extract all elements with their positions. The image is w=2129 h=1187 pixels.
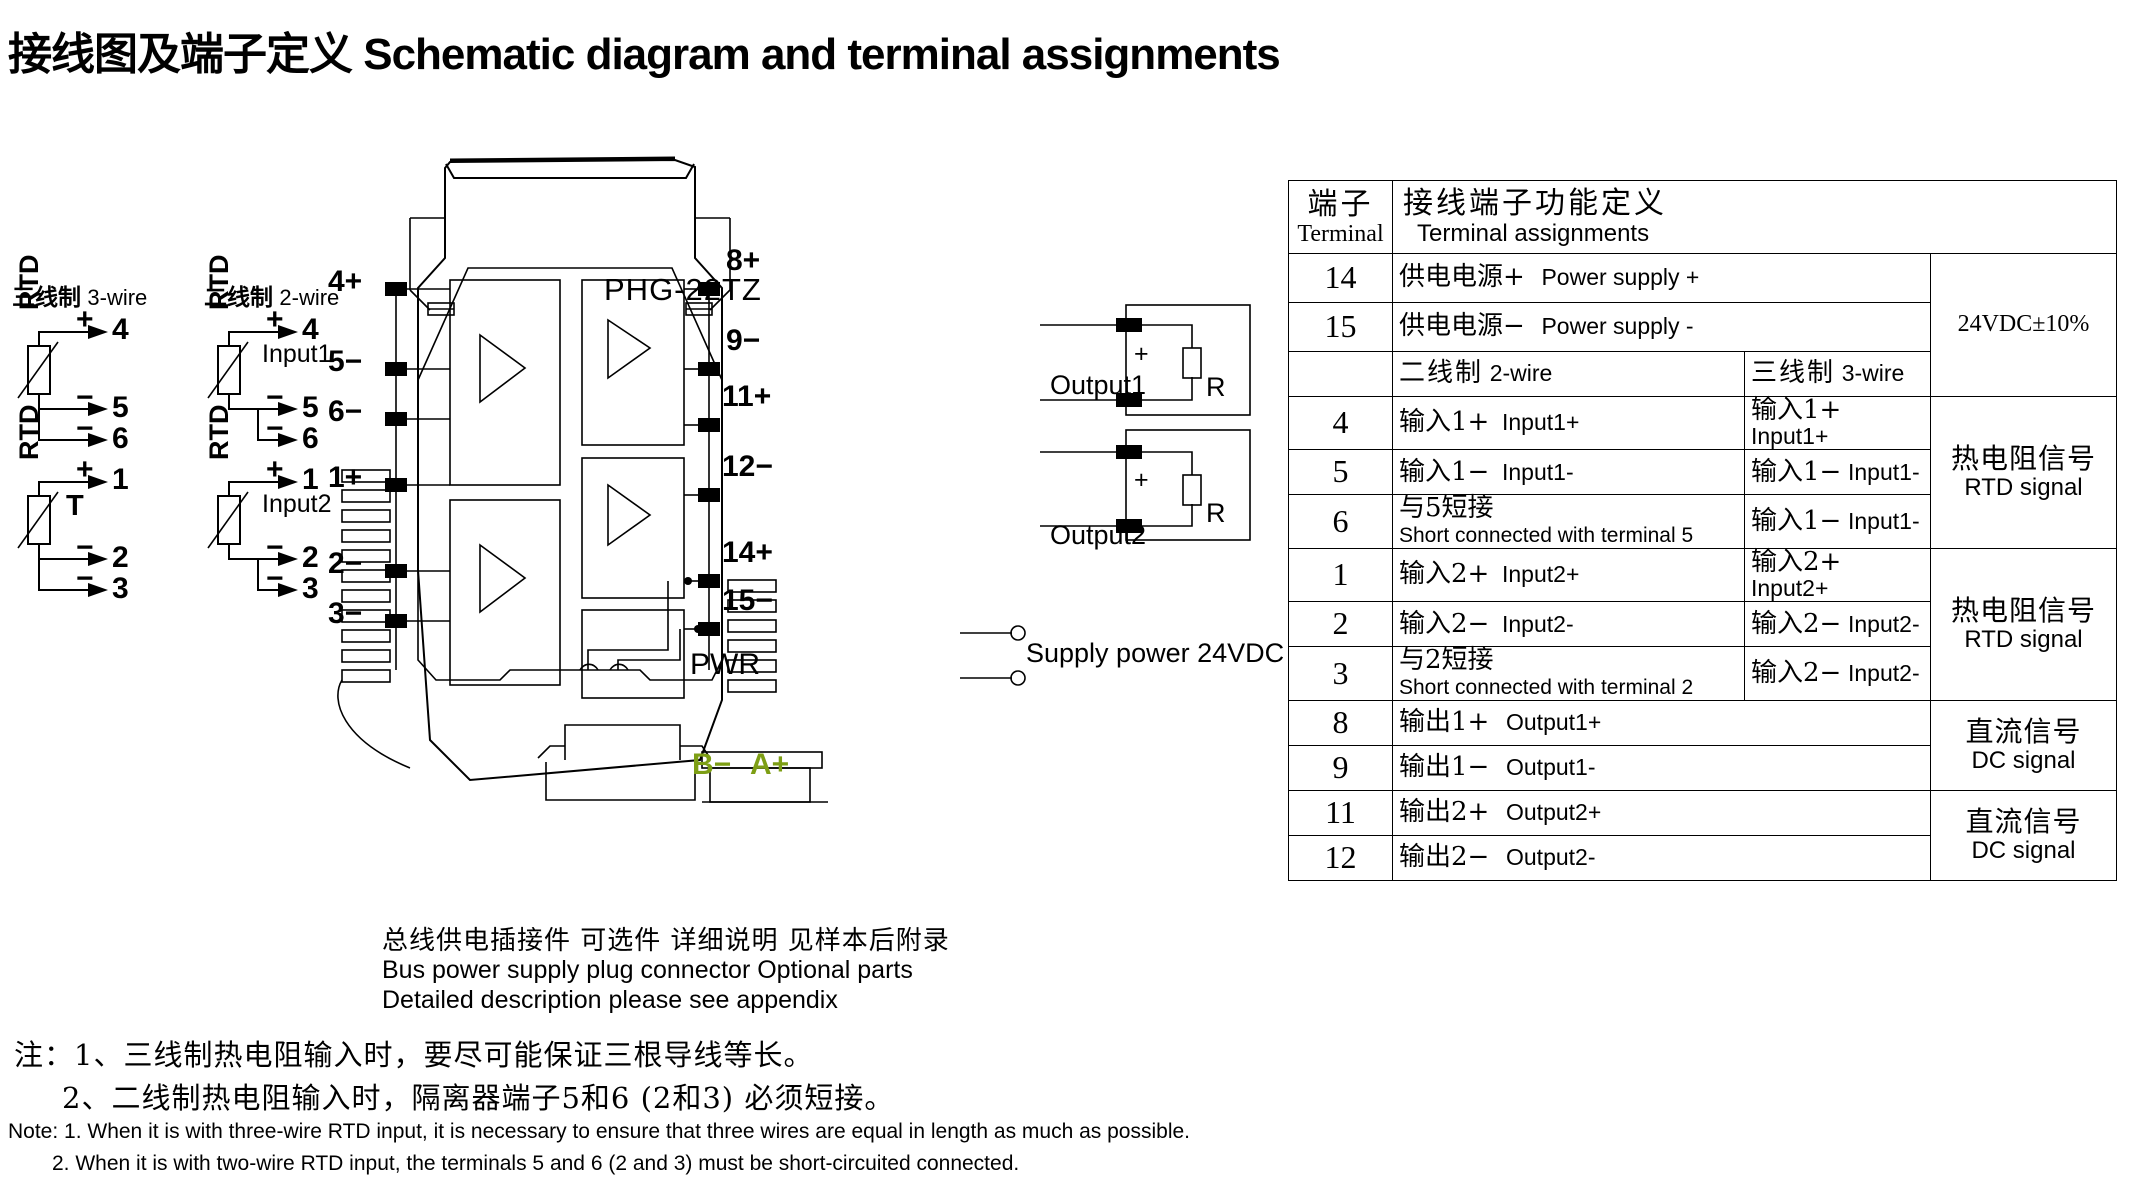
row-output-12: 输出2− Output2- — [1393, 835, 1931, 880]
row-output-9-cn: 输出1− — [1399, 752, 1489, 782]
row-2-3wire-cn: 输入2− — [1751, 609, 1841, 639]
terminal-number-3: 3 — [302, 572, 319, 606]
row-5-2wire-en: Input1- — [1502, 459, 1574, 485]
sign-minus-5: − — [266, 381, 284, 415]
row-terminal-8: 8 — [1289, 700, 1393, 745]
row-5-2wire: 输入1− Input1- — [1393, 450, 1745, 495]
sign-plus-4: + — [266, 303, 284, 337]
output1-signal-cn: 直流信号 — [1965, 715, 2081, 748]
output2-signal-en: DC signal — [1937, 838, 2110, 863]
row-terminal-14: 14 — [1289, 253, 1393, 302]
amplifier-triangle-4 — [608, 485, 650, 545]
output2-resistor-label: R — [1206, 498, 1226, 529]
terminal-number-2: 2 — [112, 541, 129, 575]
rtd-label-3wire-2: RTD — [14, 405, 45, 461]
row-5-3wire: 输入1− Input1- — [1745, 450, 1931, 495]
row-output-8-cn: 输出1+ — [1399, 707, 1489, 737]
input1-signal-cn: 热电阻信号 — [1951, 442, 2096, 475]
device-terminal-1: 1+ — [328, 461, 362, 495]
row-terminal-3: 3 — [1289, 647, 1393, 700]
row-power-15-en: Power supply - — [1541, 313, 1693, 339]
terminal-number-5: 5 — [302, 391, 319, 425]
wire-header-3wire-en: 3-wire — [1842, 360, 1905, 386]
terminal-number-5: 5 — [112, 391, 129, 425]
input2-label: Input2 — [262, 490, 332, 519]
table-row: 1 输入2+ Input2+ 输入2+ Input2+ 热电阻信号 RTD si… — [1289, 548, 2117, 601]
sign-minus-5: − — [76, 381, 94, 415]
row-4-2wire-cn: 输入1+ — [1399, 407, 1489, 437]
caption-en-line2: Detailed description please see appendix — [382, 986, 838, 1015]
row-6-3wire-en: Input1- — [1848, 508, 1920, 534]
output1-label: Output1 — [1050, 370, 1146, 401]
row-4-3wire-en: Input1+ — [1751, 423, 1828, 449]
row-5-2wire-cn: 输入1− — [1399, 457, 1489, 487]
header-assignments-cell: 接线端子功能定义 Terminal assignments — [1393, 181, 2117, 254]
pwr-block-label: PWR — [690, 648, 760, 682]
row-2-2wire: 输入2− Input2- — [1393, 602, 1745, 647]
housing-top-edge — [450, 158, 675, 160]
terminal-assignment-table: 端子 Terminal 接线端子功能定义 Terminal assignment… — [1288, 180, 2117, 881]
row-4-3wire-cn: 输入1+ — [1751, 395, 1841, 425]
row-terminal-2: 2 — [1289, 602, 1393, 647]
device-terminal-12: 12− — [722, 450, 773, 484]
din-clip-body — [565, 725, 680, 760]
rtd-label-2wire-2: RTD — [204, 405, 235, 461]
rtd-resistor-symbol — [218, 346, 240, 394]
row-1-3wire-en: Input2+ — [1751, 575, 1828, 601]
row-power-14: 供电电源+ Power supply + — [1393, 253, 1931, 302]
row-2-2wire-cn: 输入2− — [1399, 609, 1489, 639]
page-title-en: Schematic diagram and terminal assignmen… — [363, 30, 1280, 79]
row-6-2wire-cn: 与5短接 — [1399, 493, 1494, 523]
row-terminal-9: 9 — [1289, 745, 1393, 790]
device-terminal-9: 9− — [726, 324, 760, 358]
terminal-number-6: 6 — [302, 422, 319, 456]
row-4-2wire-en: Input1+ — [1502, 409, 1579, 435]
amplifier-triangle-2 — [480, 545, 525, 612]
row-2-3wire-en: Input2- — [1848, 611, 1920, 637]
row-6-2wire: 与5短接 Short connected with terminal 5 — [1393, 495, 1745, 548]
output1-minus-sign: - — [1134, 380, 1142, 409]
note-cn-line2: 2、二线制热电阻输入时，隔离器端子5和6 (2和3) 必须短接。 — [62, 1075, 894, 1117]
supply-terminal-plus — [1011, 626, 1025, 640]
row-3-2wire: 与2短接 Short connected with terminal 2 — [1393, 647, 1745, 700]
table-row: 4 输入1+ Input1+ 输入1+ Input1+ 热电阻信号 RTD si… — [1289, 396, 2117, 449]
page-title: 接线图及端子定义 Schematic diagram and terminal … — [8, 18, 1280, 82]
wire-header-2wire-en: 2-wire — [1490, 360, 1553, 386]
device-terminal-5: 5− — [328, 345, 362, 379]
din-clip-shoulder — [538, 746, 710, 758]
row-3-2wire-cn: 与2短接 — [1399, 645, 1494, 675]
row-5-3wire-en: Input1- — [1848, 459, 1920, 485]
output2-signal-cn: 直流信号 — [1965, 805, 2081, 838]
row-terminal-15: 15 — [1289, 302, 1393, 351]
input2-signal-cn: 热电阻信号 — [1951, 594, 2096, 627]
terminal-number-2: 2 — [302, 541, 319, 575]
device-terminal-11: 11+ — [722, 380, 771, 414]
row-2-3wire: 输入2− Input2- — [1745, 602, 1931, 647]
header-assignments-cn: 接线端子功能定义 — [1403, 186, 1667, 221]
device-terminal-4: 4+ — [328, 265, 362, 299]
note-en-line1: Note: 1. When it is with three-wire RTD … — [8, 1120, 1190, 1144]
terminal-number-6: 6 — [112, 422, 129, 456]
row-terminal-4: 4 — [1289, 396, 1393, 449]
housing-outline — [418, 160, 722, 780]
terminal-number-1: 1 — [112, 463, 129, 497]
bus-label-b: B− — [692, 748, 731, 782]
node-14 — [684, 577, 692, 585]
wire-header-2wire: 二线制 2-wire — [1393, 351, 1745, 396]
row-3-3wire-cn: 输入2− — [1751, 658, 1841, 688]
device-terminal-3: 3− — [328, 597, 362, 631]
sign-minus-6: − — [76, 412, 94, 446]
output1-resistor — [1183, 348, 1201, 378]
rtd-label-3wire-1: RTD — [14, 255, 45, 311]
row-terminal-1: 1 — [1289, 548, 1393, 601]
row-output-11-en: Output2+ — [1506, 799, 1601, 825]
device-terminal-6: 6− — [328, 395, 362, 429]
node-15 — [694, 625, 702, 633]
table-header-row: 端子 Terminal 接线端子功能定义 Terminal assignment… — [1289, 181, 2117, 254]
row-1-3wire-cn: 输入2+ — [1751, 547, 1841, 577]
row-6-2wire-en: Short connected with terminal 5 — [1399, 525, 1693, 547]
sign-plus-4: + — [76, 303, 94, 337]
row-terminal-6: 6 — [1289, 495, 1393, 548]
supply-terminal-minus — [1011, 671, 1025, 685]
row-4-3wire: 输入1+ Input1+ — [1745, 396, 1931, 449]
page-title-cn: 接线图及端子定义 — [8, 29, 352, 80]
table-row: 8 输出1+ Output1+ 直流信号 DC signal — [1289, 700, 2117, 745]
power-signal-cell: 24VDC±10% — [1931, 253, 2117, 396]
row-1-2wire: 输入2+ Input2+ — [1393, 548, 1745, 601]
row-2-2wire-en: Input2- — [1502, 611, 1574, 637]
input1-label: Input1 — [262, 340, 332, 369]
device-terminal-14: 14+ — [722, 536, 773, 570]
row-power-15-cn: 供电电源− — [1399, 311, 1525, 341]
row-3-2wire-en: Short connected with terminal 2 — [1399, 677, 1693, 699]
wire-header-2wire-cn: 二线制 — [1399, 358, 1483, 388]
caption-en-line1: Bus power supply plug connector Optional… — [382, 956, 913, 985]
row-output-9-en: Output1- — [1506, 754, 1596, 780]
row-output-11-cn: 输出2+ — [1399, 797, 1489, 827]
row-terminal-12: 12 — [1289, 835, 1393, 880]
input1-signal-en: RTD signal — [1937, 475, 2110, 500]
header-terminal-en: Terminal — [1293, 222, 1388, 247]
output1-plus-sign: + — [1134, 340, 1149, 369]
output1-resistor-label: R — [1206, 372, 1226, 403]
rtd-resistor-symbol — [28, 346, 50, 394]
output2-label: Output2 — [1050, 520, 1146, 551]
output2-plus-sign: + — [1134, 466, 1149, 495]
input2-signal-en: RTD signal — [1937, 627, 2110, 652]
row-5-3wire-cn: 输入1− — [1751, 457, 1841, 487]
rtd-resistor-symbol — [218, 496, 240, 544]
row-power-15: 供电电源− Power supply - — [1393, 302, 1931, 351]
row-3-3wire-en: Input2- — [1848, 660, 1920, 686]
device-terminal-8: 8+ — [726, 244, 760, 278]
amplifier-triangle-1 — [480, 335, 525, 402]
sign-minus-6: − — [266, 412, 284, 446]
row-3-3wire: 输入2− Input2- — [1745, 647, 1931, 700]
row-1-2wire-en: Input2+ — [1502, 561, 1579, 587]
output2-minus-sign: - — [1134, 506, 1142, 535]
terminal-number-3: 3 — [112, 572, 129, 606]
table-row: 14 供电电源+ Power supply + 24VDC±10% — [1289, 253, 2117, 302]
caption-cn: 总线供电插接件 可选件 详细说明 见样本后附录 — [382, 920, 950, 957]
note-cn-line1: 注：1、三线制热电阻输入时，要尽可能保证三根导线等长。 — [14, 1032, 813, 1074]
row-output-12-en: Output2- — [1506, 844, 1596, 870]
rtd-t-label: T — [66, 490, 84, 523]
sign-minus-2: − — [266, 531, 284, 565]
sign-minus-3: − — [76, 562, 94, 596]
row-output-8-en: Output1+ — [1506, 709, 1601, 735]
output2-resistor — [1183, 475, 1201, 505]
row-output-8: 输出1+ Output1+ — [1393, 700, 1931, 745]
rtd-resistor-symbol — [28, 496, 50, 544]
row-output-11: 输出2+ Output2+ — [1393, 790, 1931, 835]
input2-signal-cell: 热电阻信号 RTD signal — [1931, 548, 2117, 700]
output1-signal-cell: 直流信号 DC signal — [1931, 700, 2117, 790]
wire-header-3wire-cn: 三线制 — [1751, 358, 1835, 388]
header-assignments-en: Terminal assignments — [1417, 221, 2106, 246]
row-terminal-11: 11 — [1289, 790, 1393, 835]
bus-label-a: A+ — [750, 748, 789, 782]
header-terminal-cell: 端子 Terminal — [1289, 181, 1393, 254]
sign-minus-3: − — [266, 562, 284, 596]
amplifier-triangle-3 — [608, 320, 650, 378]
bus-lead-b — [588, 581, 668, 670]
row-output-9: 输出1− Output1- — [1393, 745, 1931, 790]
device-housing-schematic — [350, 140, 1070, 900]
bus-pin-a — [610, 664, 628, 670]
row-power-14-en: Power supply + — [1541, 264, 1699, 290]
row-1-2wire-cn: 输入2+ — [1399, 559, 1489, 589]
row-power-14-cn: 供电电源+ — [1399, 262, 1525, 292]
rtd-3wire-heading-en: 3-wire — [87, 285, 147, 310]
input1-signal-cell: 热电阻信号 RTD signal — [1931, 396, 2117, 548]
note-en-line2: 2. When it is with two-wire RTD input, t… — [52, 1152, 1019, 1176]
wire-header-blank — [1289, 351, 1393, 396]
supply-power-label: Supply power 24VDC — [1026, 638, 1284, 669]
sign-plus-1: + — [266, 453, 284, 487]
body-curve-left — [338, 680, 410, 768]
output2-signal-cell: 直流信号 DC signal — [1931, 790, 2117, 880]
housing-top-cap — [446, 164, 694, 178]
row-4-2wire: 输入1+ Input1+ — [1393, 396, 1745, 449]
row-output-12-cn: 输出2− — [1399, 842, 1489, 872]
rtd-label-2wire-1: RTD — [204, 255, 235, 311]
inner-outline — [418, 380, 722, 680]
output1-signal-en: DC signal — [1937, 748, 2110, 773]
sign-plus-1: + — [76, 453, 94, 487]
row-6-3wire: 输入1− Input1- — [1745, 495, 1931, 548]
device-terminal-2: 2− — [328, 547, 362, 581]
row-terminal-5: 5 — [1289, 450, 1393, 495]
output-loads-schematic — [1040, 280, 1320, 640]
row-1-3wire: 输入2+ Input2+ — [1745, 548, 1931, 601]
table-row: 11 输出2+ Output2+ 直流信号 DC signal — [1289, 790, 2117, 835]
wire-header-3wire: 三线制 3-wire — [1745, 351, 1931, 396]
device-terminal-15: 15− — [722, 584, 773, 618]
sign-minus-2: − — [76, 531, 94, 565]
terminal-number-4: 4 — [112, 313, 129, 347]
row-6-3wire-cn: 输入1− — [1751, 506, 1841, 536]
header-terminal-cn: 端子 — [1308, 187, 1374, 222]
